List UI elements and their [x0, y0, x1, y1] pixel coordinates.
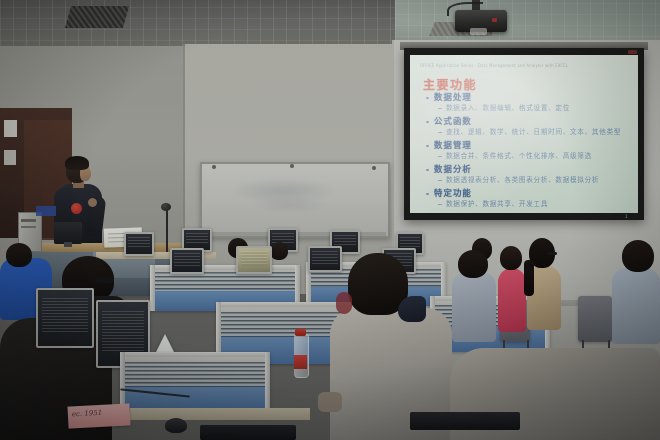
lanyard [336, 292, 352, 314]
person-blue-shirt-far-right [612, 268, 660, 344]
pc-drive-slot [21, 219, 36, 222]
front-row-man-collar [398, 296, 426, 322]
wall-notice-paper [4, 120, 17, 137]
classroom-photo: OFFICE Application Series · Data Managem… [0, 0, 660, 440]
glasses-icon [548, 252, 557, 255]
projector-lens-icon [470, 28, 487, 35]
slide-block-sub: 数据录入、数据编辑、格式设置、定位 [424, 103, 629, 113]
monitor-row2-3 [308, 246, 342, 272]
desk-surface-foreground [130, 408, 310, 420]
chair-right-2 [578, 296, 612, 342]
computer-mouse [165, 418, 187, 433]
wall-notice-paper-second [4, 150, 16, 165]
person-pink-jacket [498, 268, 526, 332]
slide-page-number: 1 [625, 203, 628, 222]
whiteboard-clip [212, 165, 216, 169]
slide-block-heading: 特定功能 [424, 188, 629, 199]
desk-partition-foreground [120, 352, 270, 414]
slide-title-text: 主要功能 [423, 78, 477, 92]
keyboard-foreground [200, 425, 296, 440]
podium-monitor-stand [64, 242, 72, 247]
monitor-row2-2 [236, 246, 272, 274]
person-head-far-right [622, 240, 654, 272]
long-hair [524, 260, 534, 296]
slide-header-line: OFFICE Application Series · Data Managem… [420, 63, 610, 71]
whiteboard-clip [372, 166, 376, 170]
monitor-far-1 [124, 232, 154, 256]
slide-block-heading: 数据处理 [424, 92, 629, 103]
slide-block-sub: 数据保护、数据共享、开发工具 [424, 199, 629, 209]
blue-equipment-box [36, 206, 56, 216]
slide-title: 主要功能 [423, 74, 477, 93]
slide-page-number-text: 1 [625, 214, 628, 219]
pc-drive-slot-secondary [21, 226, 36, 228]
paper-name-tent [155, 334, 175, 354]
slide-block-sub: 数据合并、条件格式、个性化排序、高级筛选 [424, 151, 629, 161]
bottle-label-cocacola [294, 355, 307, 369]
hand [318, 392, 342, 412]
student-head-far-2 [270, 242, 288, 260]
presenter-hair [65, 156, 89, 170]
desk-sticky-label: ec. 1951 [67, 403, 130, 428]
whiteboard-clip [290, 164, 294, 168]
microphone-stand [166, 208, 168, 256]
person-head-light-blue-shirt [458, 250, 488, 278]
glasses-icon [96, 278, 114, 283]
slide-header-text: OFFICE Application Series · Data Managem… [420, 63, 610, 68]
projector-indicator-light [492, 18, 497, 22]
keyboard-foreground-right [410, 412, 520, 430]
slide-block-sub: 查找、逻辑、数学、统计、日期时间、文本、其他类型 [424, 127, 629, 137]
slide-block: 数据分析 数据透视表分析、各类图表分析、数据模拟分析 [424, 164, 629, 185]
presenter-hand [88, 198, 97, 207]
student-head-blue-jacket [6, 243, 32, 267]
whiteboard-erased-writing-lower [250, 196, 330, 214]
monitor-foreground-left [36, 288, 94, 348]
slide-block-heading: 数据管理 [424, 140, 629, 151]
slide-block-heading: 公式函数 [424, 116, 629, 127]
slide-block: 数据处理 数据录入、数据编辑、格式设置、定位 [424, 92, 629, 113]
slide-block-heading: 数据分析 [424, 164, 629, 175]
slide-block-sub: 数据透视表分析、各类图表分析、数据模拟分析 [424, 175, 629, 185]
slide-bullet-list: 数据处理 数据录入、数据编辑、格式设置、定位 公式函数 查找、逻辑、数学、统计、… [424, 92, 629, 212]
slide-block: 特定功能 数据保护、数据共享、开发工具 [424, 188, 629, 209]
person-head-pink-jacket [500, 246, 522, 270]
presenter-shirt-logo [71, 203, 82, 214]
monitor-row2-1 [170, 248, 204, 274]
microphone-icon [161, 203, 171, 211]
person-light-blue-shirt [452, 272, 496, 342]
podium-monitor [54, 222, 82, 244]
screen-brand-mark [628, 50, 637, 54]
desk-sticky-label-text: ec. 1951 [67, 403, 130, 418]
bottle-cap [295, 329, 306, 336]
slide-block: 数据管理 数据合并、条件格式、个性化排序、高级筛选 [424, 140, 629, 161]
slide-block: 公式函数 查找、逻辑、数学、统计、日期时间、文本、其他类型 [424, 116, 629, 137]
ceiling-vent-icon [65, 6, 129, 28]
